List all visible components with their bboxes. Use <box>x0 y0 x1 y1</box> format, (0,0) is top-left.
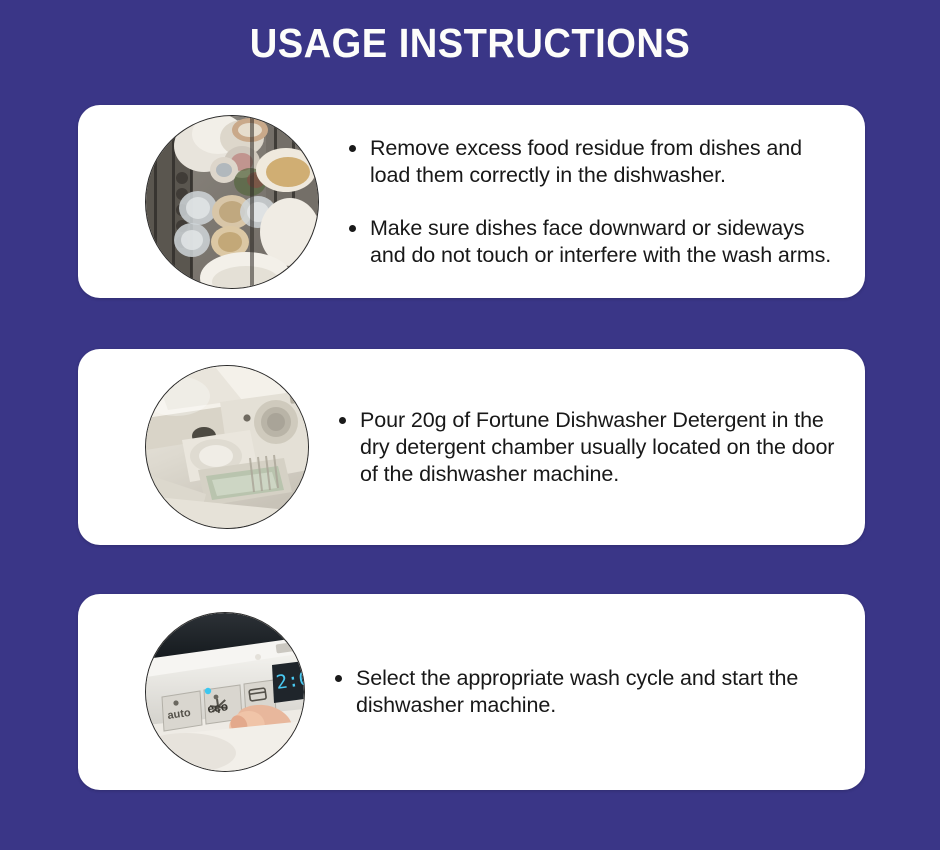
list-item: Remove excess food residue from dishes a… <box>349 135 839 189</box>
bullet-text: Remove excess food residue from dishes a… <box>370 135 839 189</box>
bullet-dot-icon <box>335 675 342 682</box>
card-1-image-wrap <box>145 115 319 289</box>
instruction-card-3: auto eco 2:0 <box>78 594 865 790</box>
poster-root: USAGE INSTRUCTIONS <box>0 0 940 850</box>
bullet-dot-icon <box>349 145 356 152</box>
svg-text:2:0: 2:0 <box>275 667 304 694</box>
card-content: auto eco 2:0 <box>78 594 865 790</box>
instruction-card-2: Pour 20g of Fortune Dishwasher Detergent… <box>78 349 865 545</box>
instruction-card-1: Remove excess food residue from dishes a… <box>78 105 865 298</box>
detergent-dispenser-photo <box>145 365 309 529</box>
bullet-dot-icon <box>339 417 346 424</box>
card-1-bullets: Remove excess food residue from dishes a… <box>349 135 839 269</box>
card-content: Pour 20g of Fortune Dishwasher Detergent… <box>78 349 865 545</box>
bullet-text: Pour 20g of Fortune Dishwasher Detergent… <box>360 407 839 488</box>
list-item: Make sure dishes face downward or sidewa… <box>349 215 839 269</box>
card-3-image-wrap: auto eco 2:0 <box>145 612 305 772</box>
list-item: Pour 20g of Fortune Dishwasher Detergent… <box>339 407 839 488</box>
card-2-image-wrap <box>145 365 309 529</box>
page-title: USAGE INSTRUCTIONS <box>33 18 907 68</box>
card-2-bullets: Pour 20g of Fortune Dishwasher Detergent… <box>339 407 839 488</box>
dishwasher-loaded-dishes-photo <box>145 115 319 289</box>
bullet-text: Select the appropriate wash cycle and st… <box>356 665 839 719</box>
control-panel-eco-button-photo: auto eco 2:0 <box>145 612 305 772</box>
svg-text:eco: eco <box>206 699 228 716</box>
bullet-dot-icon <box>349 225 356 232</box>
card-content: Remove excess food residue from dishes a… <box>78 105 865 298</box>
bullet-text: Make sure dishes face downward or sidewa… <box>370 215 839 269</box>
list-item: Select the appropriate wash cycle and st… <box>335 665 839 719</box>
card-3-bullets: Select the appropriate wash cycle and st… <box>335 665 839 719</box>
